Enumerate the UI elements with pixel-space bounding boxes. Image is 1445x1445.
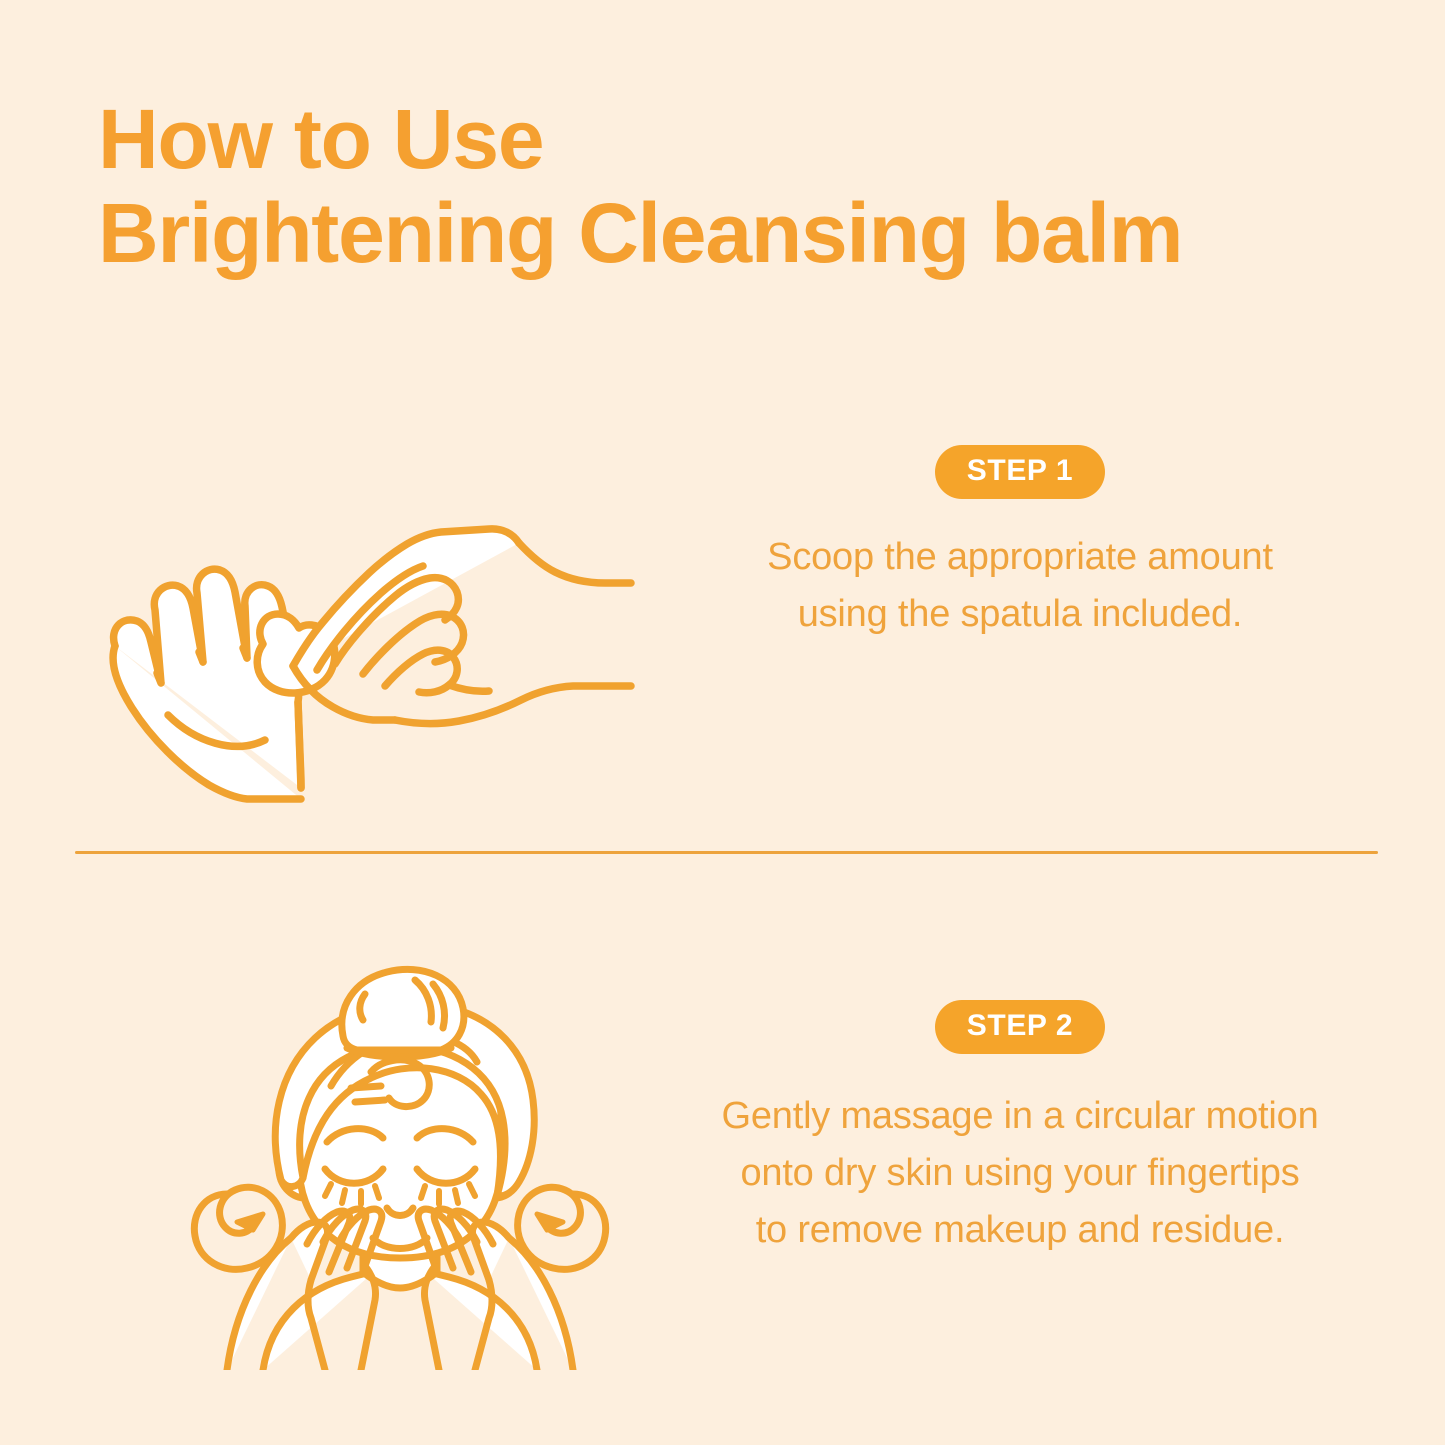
step-2-description: Gently massage in a circular motion onto… (640, 1088, 1400, 1259)
step-2-badge: STEP 2 (935, 1000, 1105, 1054)
step-2-section: STEP 2 Gently massage in a circular moti… (0, 940, 1445, 1445)
woman-massaging-face-illustration (175, 950, 625, 1370)
page-title-line-1: How to Use (98, 92, 1358, 186)
step-1-text-column: STEP 1 Scoop the appropriate amount usin… (640, 445, 1400, 643)
step-1-description-line-1: Scoop the appropriate amount (640, 529, 1400, 586)
section-divider (75, 851, 1378, 854)
how-to-use-infographic: How to Use Brightening Cleansing balm (0, 0, 1445, 1445)
step-1-description: Scoop the appropriate amount using the s… (640, 529, 1400, 643)
step-1-badge: STEP 1 (935, 445, 1105, 499)
step-2-description-line-1: Gently massage in a circular motion (640, 1088, 1400, 1145)
page-title: How to Use Brightening Cleansing balm (98, 92, 1358, 280)
step-2-description-line-3: to remove makeup and residue. (640, 1202, 1400, 1259)
hands-scooping-balm-illustration (85, 430, 665, 820)
step-1-description-line-2: using the spatula included. (640, 586, 1400, 643)
step-2-description-line-2: onto dry skin using your fingertips (640, 1145, 1400, 1202)
step-2-text-column: STEP 2 Gently massage in a circular moti… (640, 1000, 1400, 1259)
page-title-line-2: Brightening Cleansing balm (98, 186, 1358, 280)
step-1-section: STEP 1 Scoop the appropriate amount usin… (0, 400, 1445, 840)
